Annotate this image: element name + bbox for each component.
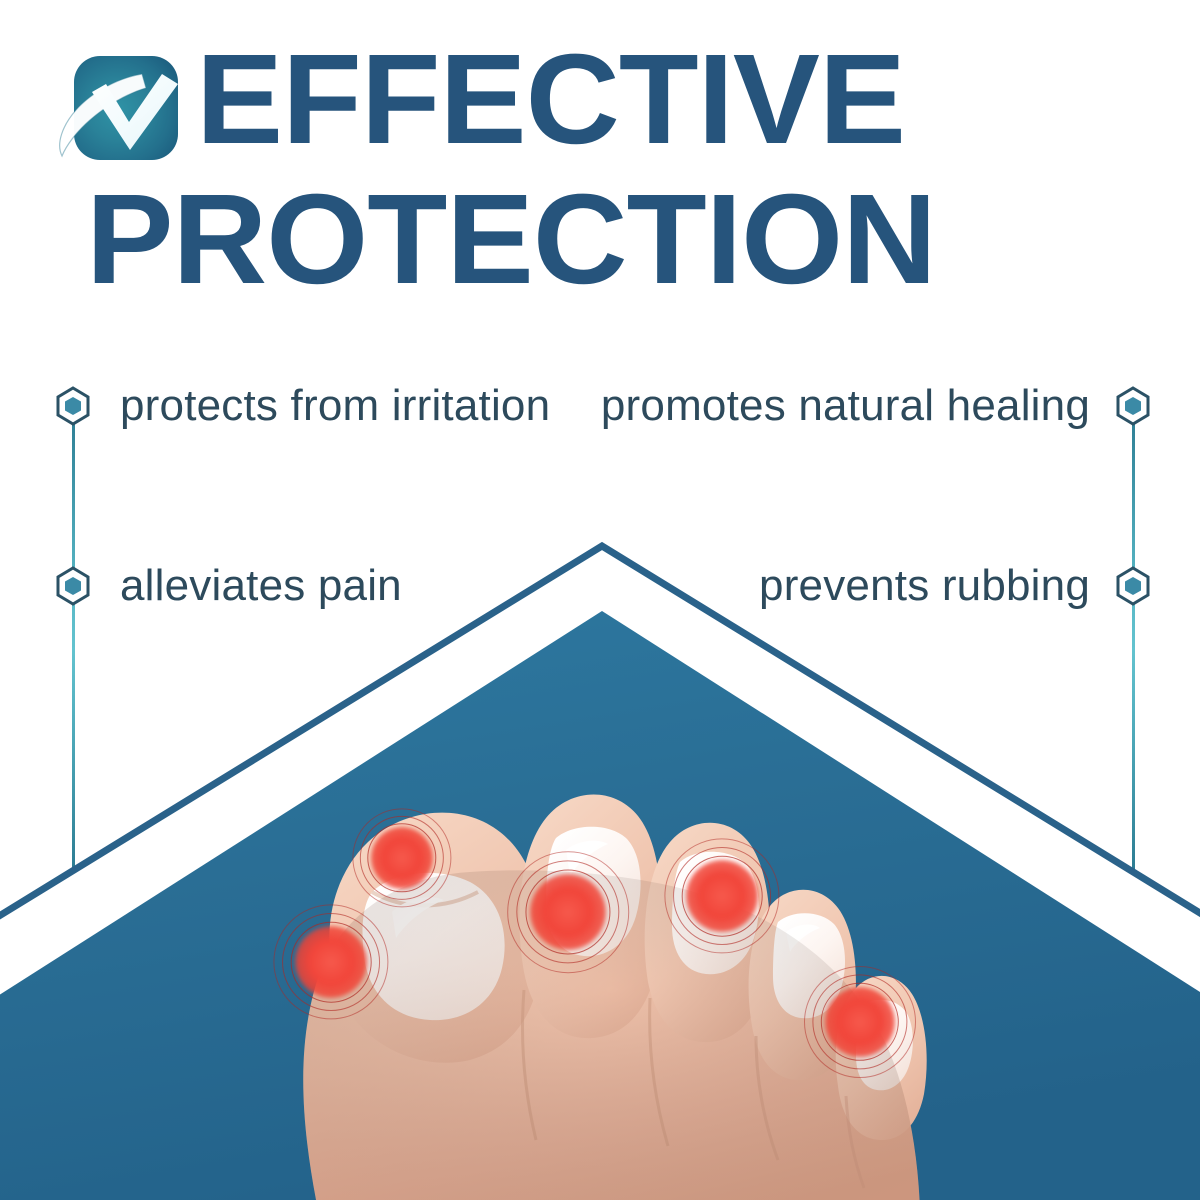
page-title-line-2: PROTECTION: [86, 176, 1200, 304]
poster-header: EFFECTIVE PROTECTION: [0, 0, 1200, 330]
brand-logo: [46, 48, 186, 178]
feature-promotes-natural-healing: promotes natural healing: [570, 380, 1090, 432]
hexagon-marker-icon: [55, 386, 91, 426]
hexagon-marker-icon: [1115, 386, 1151, 426]
feature-protects-from-irritation: protects from irritation: [120, 380, 600, 432]
foot-photo: [0, 520, 1200, 1200]
product-feature-poster: EFFECTIVE PROTECTION protects from irrit…: [0, 0, 1200, 1200]
page-title-line-1: EFFECTIVE: [196, 36, 1155, 164]
chevron-banner: [0, 520, 1200, 1200]
check-badge-logo-icon: [46, 48, 186, 178]
